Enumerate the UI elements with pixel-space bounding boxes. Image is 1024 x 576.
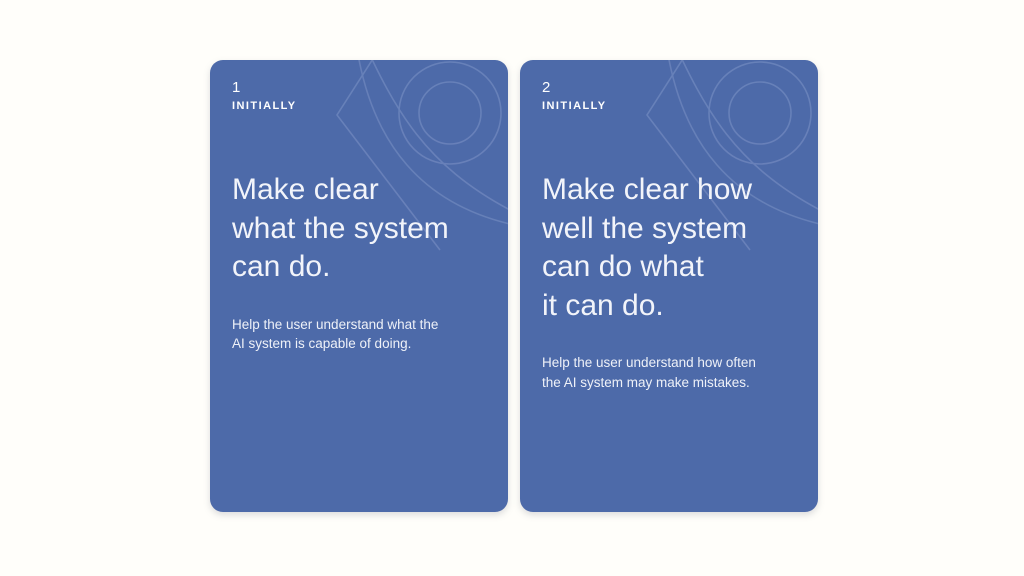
card-description: Help the user understand how often the A… xyxy=(542,353,796,392)
card-number: 2 xyxy=(542,78,796,97)
card-headline: Make clear how well the system can do wh… xyxy=(542,171,796,325)
card-description: Help the user understand what the AI sys… xyxy=(232,315,486,354)
card-headline: Make clear what the system can do. xyxy=(232,171,486,287)
guideline-card-2[interactable]: 2 INITIALLY Make clear how well the syst… xyxy=(520,60,818,512)
card-content: 1 INITIALLY Make clear what the system c… xyxy=(210,60,508,512)
card-content: 2 INITIALLY Make clear how well the syst… xyxy=(520,60,818,512)
card-eyebrow-label: INITIALLY xyxy=(542,99,796,114)
slide-canvas: 1 INITIALLY Make clear what the system c… xyxy=(0,0,1024,576)
guideline-card-1[interactable]: 1 INITIALLY Make clear what the system c… xyxy=(210,60,508,512)
guideline-card-deck: 1 INITIALLY Make clear what the system c… xyxy=(0,0,1024,576)
card-number: 1 xyxy=(232,78,486,97)
card-eyebrow-label: INITIALLY xyxy=(232,99,486,114)
